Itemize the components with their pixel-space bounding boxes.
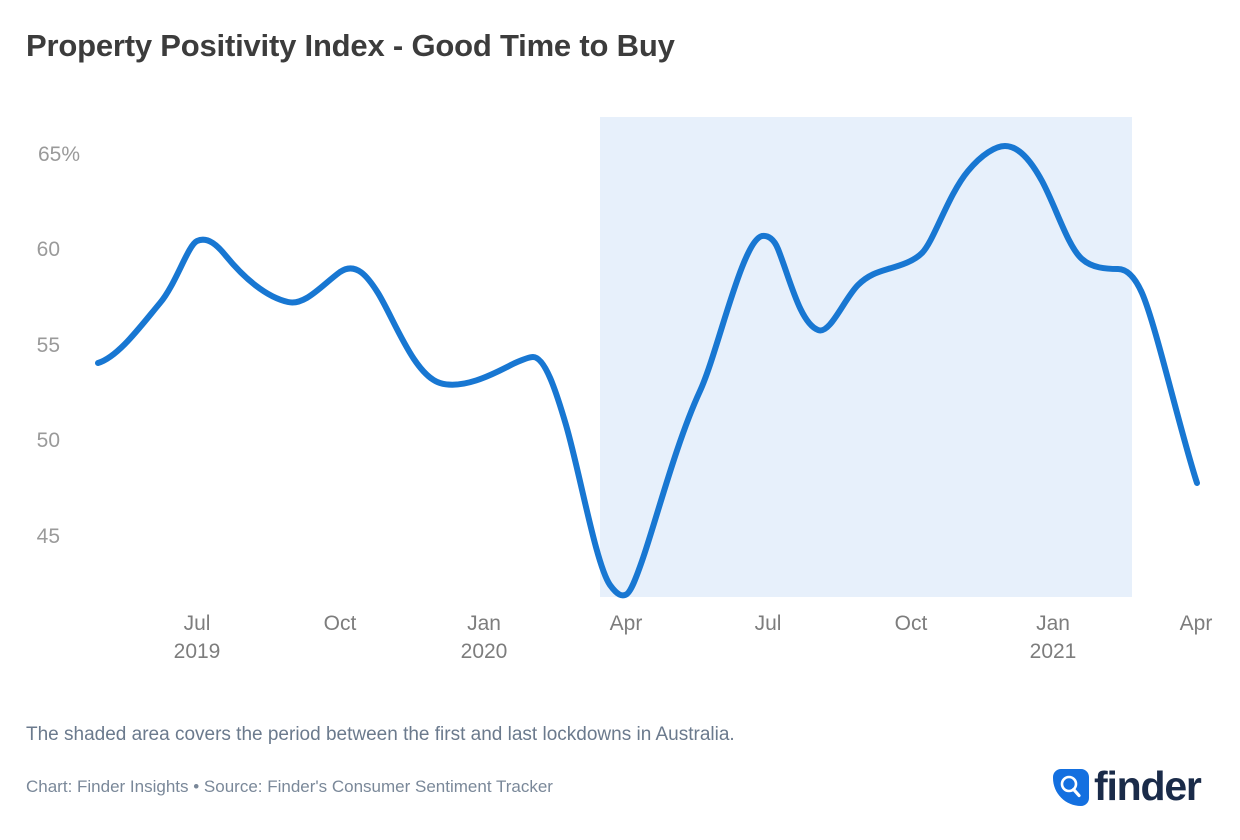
y-axis-tick-55: 55 xyxy=(0,334,60,358)
x-axis-tick-apr-2021: Apr xyxy=(1126,610,1240,638)
y-axis-tick-label: 55 xyxy=(37,334,60,357)
x-axis-tick-jul-2020: Jul xyxy=(698,610,838,638)
y-axis-tick-60: 60 xyxy=(0,238,60,262)
page-title: Property Positivity Index - Good Time to… xyxy=(26,28,675,64)
y-axis-tick-label: 60 xyxy=(37,238,60,261)
chart-svg xyxy=(0,95,1240,615)
x-axis-tick-label: Oct xyxy=(895,612,928,635)
x-axis-tick-label: Oct xyxy=(324,612,357,635)
x-axis-tick-label: Jan xyxy=(467,612,501,635)
x-axis-tick-label: Apr xyxy=(610,612,643,635)
x-axis-tick-year: 2019 xyxy=(127,638,267,666)
x-axis-tick-label: Jul xyxy=(755,612,782,635)
x-axis-tick-jul-2019: Jul 2019 xyxy=(127,610,267,667)
finder-logo: finder xyxy=(1052,764,1220,812)
x-axis-tick-year: 2021 xyxy=(983,638,1123,666)
x-axis-tick-apr-2020: Apr xyxy=(556,610,696,638)
finder-wordmark: finder xyxy=(1094,762,1201,810)
x-axis: Jul 2019 Oct Jan 2020 Apr Jul Oct Jan 20… xyxy=(0,610,1240,700)
y-axis-tick-65: 65% xyxy=(0,143,80,167)
y-axis-tick-50: 50 xyxy=(0,429,60,453)
x-axis-tick-oct-2020: Oct xyxy=(841,610,981,638)
x-axis-tick-label: Jul xyxy=(184,612,211,635)
finder-droplet-search-icon xyxy=(1052,768,1090,808)
x-axis-tick-jan-2021: Jan 2021 xyxy=(983,610,1123,667)
x-axis-tick-label: Jan xyxy=(1036,612,1070,635)
x-axis-tick-oct-2019: Oct xyxy=(270,610,410,638)
y-axis-tick-45: 45 xyxy=(0,525,60,549)
y-axis-tick-label: 45 xyxy=(37,525,60,548)
lockdown-period-band xyxy=(600,117,1132,597)
y-axis-tick-label: 65% xyxy=(38,143,80,166)
y-axis-tick-label: 50 xyxy=(37,429,60,452)
chart-page: Property Positivity Index - Good Time to… xyxy=(0,0,1240,840)
x-axis-tick-jan-2020: Jan 2020 xyxy=(414,610,554,667)
plot-area: 65% 60 55 50 45 xyxy=(0,95,1240,615)
chart-credit: Chart: Finder Insights • Source: Finder'… xyxy=(26,777,553,797)
x-axis-tick-year: 2020 xyxy=(414,638,554,666)
shaded-area-note: The shaded area covers the period betwee… xyxy=(26,724,735,746)
x-axis-tick-label: Apr xyxy=(1180,612,1213,635)
